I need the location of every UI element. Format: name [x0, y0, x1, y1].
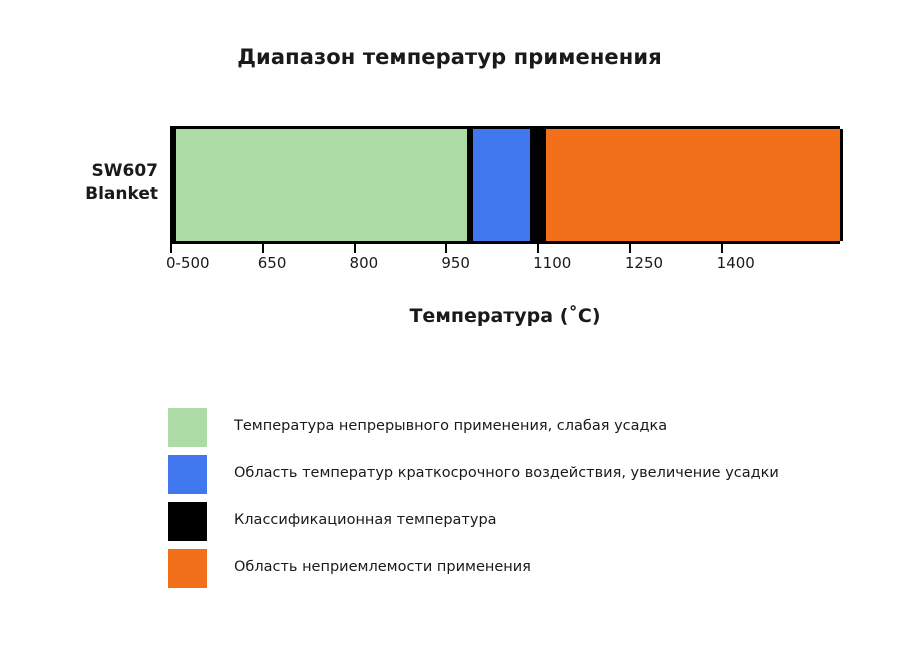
- x-tick-label-5: 1250: [625, 254, 663, 272]
- category-label-line-1: SW607: [10, 160, 158, 183]
- bar-segment-unacceptable-use: [543, 129, 843, 241]
- x-tick-mark-1: [262, 244, 264, 253]
- x-axis-title: Температура (˚С): [170, 305, 840, 327]
- legend-item-3: Область неприемлемости применения: [168, 549, 868, 596]
- legend-item-1: Область температур краткосрочного воздей…: [168, 455, 868, 502]
- temperature-range-chart: Диапазон температур применения SW607 Bla…: [0, 0, 899, 645]
- legend-swatch-1: [168, 455, 207, 494]
- x-tick-mark-2: [354, 244, 356, 253]
- x-tick-mark-5: [629, 244, 631, 253]
- legend-item-2: Классификационная температура: [168, 502, 868, 549]
- x-tick-label-6: 1400: [717, 254, 755, 272]
- x-tick-label-2: 800: [350, 254, 379, 272]
- bar-segment-short-term-exposure: [470, 129, 534, 241]
- x-axis-tick-marks: [170, 244, 850, 254]
- legend-swatch-0: [168, 408, 207, 447]
- legend-swatch-3: [168, 549, 207, 588]
- category-label-sw607-blanket: SW607 Blanket: [10, 160, 158, 206]
- x-tick-mark-0: [170, 244, 172, 253]
- legend-label-0: Температура непрерывного применения, сла…: [234, 418, 667, 434]
- plot-area: [170, 126, 840, 244]
- stacked-bar-sw607-blanket: [173, 129, 837, 241]
- chart-title: Диапазон температур применения: [0, 45, 899, 69]
- x-tick-label-0: 0-500: [166, 254, 210, 272]
- legend-label-3: Область неприемлемости применения: [234, 559, 531, 575]
- x-tick-mark-3: [445, 244, 447, 253]
- x-axis-tick-labels: 0-500650800950110012501400: [170, 254, 870, 278]
- x-tick-label-1: 650: [258, 254, 287, 272]
- chart-legend: Температура непрерывного применения, сла…: [168, 408, 868, 596]
- legend-label-2: Классификационная температура: [234, 512, 497, 528]
- legend-item-0: Температура непрерывного применения, сла…: [168, 408, 868, 455]
- legend-label-1: Область температур краткосрочного воздей…: [234, 465, 779, 481]
- x-tick-mark-6: [721, 244, 723, 253]
- x-tick-mark-4: [537, 244, 539, 253]
- bar-segment-classification-temperature: [533, 129, 542, 241]
- bar-segment-continuous-use: [173, 129, 470, 241]
- legend-swatch-2: [168, 502, 207, 541]
- category-label-line-2: Blanket: [10, 183, 158, 206]
- x-tick-label-4: 1100: [533, 254, 571, 272]
- x-tick-label-3: 950: [441, 254, 470, 272]
